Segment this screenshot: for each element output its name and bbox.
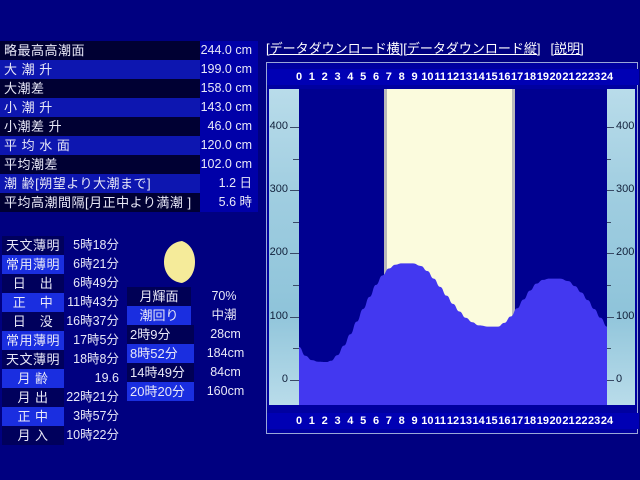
chart-y-major-tick <box>290 127 299 128</box>
tide-constant-value: 158.0 cm <box>200 79 258 98</box>
chart-plot-area <box>299 89 607 405</box>
sun-moon-times-table: 天文薄明5時18分常用薄明6時21分日 出6時49分正 中11時43分日 没16… <box>2 236 122 445</box>
chart-y-tick-label: 0 <box>616 373 622 385</box>
moon-tide-info-value: 160cm <box>194 382 257 401</box>
chart-hour-axis-bottom: 0123456789101112131415161718192021222324 <box>267 413 639 429</box>
moon-tide-info-value: 84cm <box>194 363 257 382</box>
sun-moon-row: 月 齢19.6 <box>2 369 122 388</box>
moon-tide-info-label: 潮回り <box>127 306 191 325</box>
sun-moon-value: 22時21分 <box>64 388 122 407</box>
tide-constant-label: 平均潮差 <box>0 155 200 174</box>
sun-moon-value: 19.6 <box>64 369 122 388</box>
moon-tide-info-row: 14時49分84cm <box>127 363 257 382</box>
tide-constant-value: 244.0 cm <box>200 41 258 60</box>
tide-constant-value: 46.0 cm <box>200 117 258 136</box>
chart-hour-axis-top: 0123456789101112131415161718192021222324 <box>267 69 639 85</box>
moon-tide-info-row: 月輝面70% <box>127 287 257 306</box>
tide-constant-label: 平 均 水 面 <box>0 136 200 155</box>
chart-y-axis-left: 0100200300400 <box>269 89 299 405</box>
sun-moon-row: 日 出6時49分 <box>2 274 122 293</box>
sun-moon-value: 5時18分 <box>64 236 122 255</box>
tide-constant-label: 小 潮 升 <box>0 98 200 117</box>
tide-constant-value: 120.0 cm <box>200 136 258 155</box>
sun-moon-label: 天文薄明 <box>2 236 64 255</box>
moon-tide-info-value: 184cm <box>194 344 257 363</box>
download-links: [データダウンロード横][データダウンロード縦][説明] <box>266 38 584 57</box>
tide-constant-row: 小潮差 升46.0 cm <box>0 117 258 136</box>
chart-y-tick-label: 200 <box>616 246 634 258</box>
sun-moon-value: 11時43分 <box>64 293 122 312</box>
sun-moon-label: 日 没 <box>2 312 64 331</box>
chart-y-tick-label: 200 <box>270 246 288 258</box>
tide-constant-row: 大潮差158.0 cm <box>0 79 258 98</box>
chart-y-major-tick <box>290 190 299 191</box>
sun-moon-value: 16時37分 <box>64 312 122 331</box>
tide-constant-label: 小潮差 升 <box>0 117 200 136</box>
waning-gibbous-moon-icon <box>162 240 196 284</box>
tide-constant-value: 5.6 時 <box>200 193 258 212</box>
chart-y-major-tick <box>290 380 299 381</box>
chart-y-tick-label: 300 <box>616 183 634 195</box>
page-root: 略最高高潮面244.0 cm大 潮 升199.0 cm大潮差158.0 cm小 … <box>0 0 640 480</box>
tide-water-area <box>299 263 607 405</box>
chart-y-major-tick <box>290 253 299 254</box>
sun-moon-value: 6時49分 <box>64 274 122 293</box>
moon-tide-info-row: 20時20分160cm <box>127 382 257 401</box>
sun-moon-row: 常用薄明17時5分 <box>2 331 122 350</box>
tide-constant-label: 平均高潮間隔[月正中より満潮 ] <box>0 193 200 212</box>
sun-moon-row: 天文薄明18時8分 <box>2 350 122 369</box>
explanation-link[interactable]: [説明] <box>550 41 583 56</box>
tide-constant-value: 1.2 日 <box>200 174 258 193</box>
tide-constants-table: 略最高高潮面244.0 cm大 潮 升199.0 cm大潮差158.0 cm小 … <box>0 41 258 212</box>
sun-moon-row: 常用薄明6時21分 <box>2 255 122 274</box>
tide-constant-label: 略最高高潮面 <box>0 41 200 60</box>
sun-moon-label: 常用薄明 <box>2 331 64 350</box>
tide-constant-value: 102.0 cm <box>200 155 258 174</box>
chart-y-tick-label: 100 <box>270 310 288 322</box>
sun-moon-label: 月 入 <box>2 426 64 445</box>
chart-y-tick-label: 100 <box>616 310 634 322</box>
sun-moon-label: 日 出 <box>2 274 64 293</box>
chart-y-major-tick <box>290 317 299 318</box>
chart-y-axis-right: 0100200300400 <box>605 89 635 405</box>
download-horizontal-link[interactable]: [データダウンロード横] <box>266 41 403 56</box>
tide-constant-row: 大 潮 升199.0 cm <box>0 60 258 79</box>
sun-moon-value: 18時8分 <box>64 350 122 369</box>
tide-constant-label: 潮 齢[朔望より大潮まで] <box>0 174 200 193</box>
sun-moon-label: 天文薄明 <box>2 350 64 369</box>
moon-tide-info-table: 月輝面70%潮回り中潮2時9分28cm8時52分184cm14時49分84cm2… <box>127 287 257 401</box>
tide-level-area-curve <box>299 89 607 405</box>
moon-tide-info-label: 20時20分 <box>127 382 194 401</box>
moon-tide-info-label: 8時52分 <box>127 344 194 363</box>
sun-moon-value: 10時22分 <box>64 426 122 445</box>
sun-moon-row: 日 没16時37分 <box>2 312 122 331</box>
tide-constant-label: 大潮差 <box>0 79 200 98</box>
tide-constant-row: 略最高高潮面244.0 cm <box>0 41 258 60</box>
moon-tide-info-value: 中潮 <box>191 306 257 325</box>
tide-chart: 0123456789101112131415161718192021222324… <box>266 62 638 434</box>
sun-moon-label: 常用薄明 <box>2 255 64 274</box>
sun-moon-row: 月 入10時22分 <box>2 426 122 445</box>
tide-constant-row: 潮 齢[朔望より大潮まで]1.2 日 <box>0 174 258 193</box>
sun-moon-label: 月 齢 <box>2 369 64 388</box>
tide-constant-label: 大 潮 升 <box>0 60 200 79</box>
sun-moon-label: 正 中 <box>2 293 64 312</box>
chart-y-tick-label: 400 <box>270 120 288 132</box>
sun-moon-label: 月 出 <box>2 388 64 407</box>
sun-moon-row: 天文薄明5時18分 <box>2 236 122 255</box>
sun-moon-value: 6時21分 <box>64 255 122 274</box>
moon-tide-info-label: 2時9分 <box>127 325 194 344</box>
tide-constant-row: 平 均 水 面120.0 cm <box>0 136 258 155</box>
moon-tide-info-row: 2時9分28cm <box>127 325 257 344</box>
tide-constant-row: 小 潮 升143.0 cm <box>0 98 258 117</box>
chart-hour-tick-label: 24 <box>599 413 615 429</box>
chart-y-tick-label: 400 <box>616 120 634 132</box>
chart-y-tick-label: 300 <box>270 183 288 195</box>
moon-tide-info-label: 月輝面 <box>127 287 191 306</box>
moon-tide-info-row: 8時52分184cm <box>127 344 257 363</box>
tide-constant-value: 143.0 cm <box>200 98 258 117</box>
chart-hour-tick-label: 24 <box>599 69 615 85</box>
moon-tide-info-label: 14時49分 <box>127 363 194 382</box>
sun-moon-label: 正 中 <box>2 407 64 426</box>
tide-constant-value: 199.0 cm <box>200 60 258 79</box>
tide-constant-row: 平均高潮間隔[月正中より満潮 ]5.6 時 <box>0 193 258 212</box>
sun-moon-value: 3時57分 <box>64 407 122 426</box>
moon-tide-info-value: 70% <box>191 287 257 306</box>
tide-constant-row: 平均潮差102.0 cm <box>0 155 258 174</box>
moon-tide-info-value: 28cm <box>194 325 257 344</box>
download-vertical-link[interactable]: [データダウンロード縦] <box>403 41 540 56</box>
sun-moon-value: 17時5分 <box>64 331 122 350</box>
sun-moon-row: 正 中11時43分 <box>2 293 122 312</box>
sun-moon-row: 正 中3時57分 <box>2 407 122 426</box>
chart-y-tick-label: 0 <box>282 373 288 385</box>
sun-moon-row: 月 出22時21分 <box>2 388 122 407</box>
moon-tide-info-row: 潮回り中潮 <box>127 306 257 325</box>
